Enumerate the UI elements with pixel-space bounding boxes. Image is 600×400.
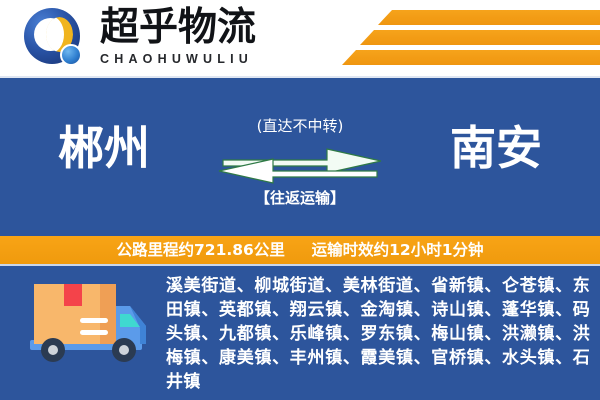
stripe-2	[360, 30, 600, 45]
poster-header: 超乎物流 CHAOHUWULIU	[0, 0, 600, 76]
distance-label: 公路里程约721.86公里	[117, 241, 285, 259]
brand-name-en: CHAOHUWULIU	[100, 51, 295, 67]
orange-speed-stripes-icon	[300, 6, 600, 72]
coverage-areas-text: 溪美街道、柳城街道、美林街道、省新镇、仑苍镇、东田镇、英都镇、翔云镇、金淘镇、诗…	[166, 274, 590, 394]
coverage-panel: 溪美街道、柳城街道、美林街道、省新镇、仑苍镇、东田镇、英都镇、翔云镇、金淘镇、诗…	[0, 264, 600, 400]
bidirectional-arrow-icon	[217, 148, 383, 184]
info-bar-text: 公路里程约721.86公里 运输时效约12小时1分钟	[117, 239, 484, 261]
logo-small-dot-icon	[60, 44, 82, 66]
destination-city-label: 南安	[450, 120, 542, 176]
route-panel: 郴州 (直达不中转) 【往返运输】 南安	[0, 76, 600, 238]
route-info-bar: 公路里程约721.86公里 运输时效约12小时1分钟	[0, 236, 600, 264]
stripe-3	[342, 50, 600, 65]
stripe-1	[378, 10, 600, 25]
duration-label: 运输时效约12小时1分钟	[312, 241, 484, 259]
round-trip-note: 【往返运输】	[0, 188, 600, 208]
chaohu-circle-logo-icon	[24, 8, 86, 70]
logistics-route-poster: 超乎物流 CHAOHUWULIU 郴州 (直达不中转) 【往返运输】 南安 公路…	[0, 0, 600, 400]
brand-name-cn: 超乎物流	[100, 6, 295, 50]
delivery-truck-icon	[22, 278, 154, 370]
brand-block: 超乎物流 CHAOHUWULIU	[100, 6, 295, 67]
